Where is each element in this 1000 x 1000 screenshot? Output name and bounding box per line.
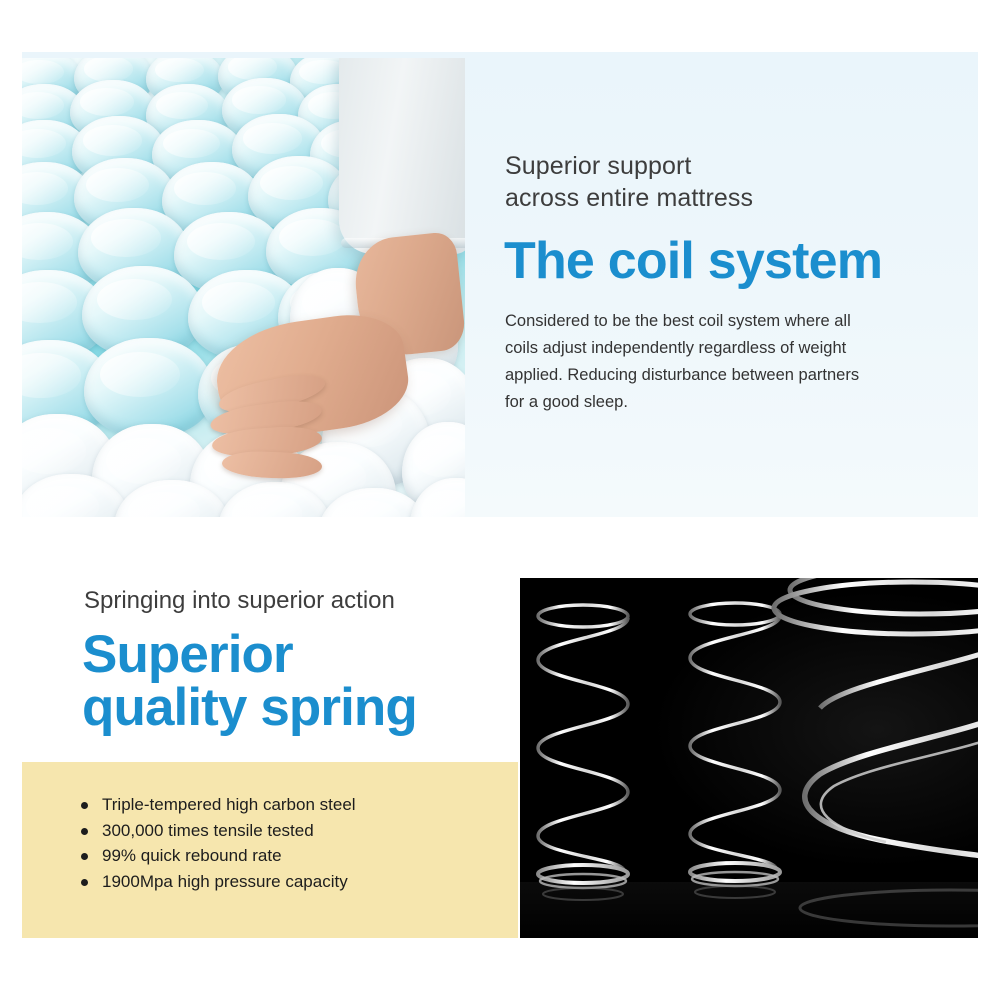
spring-large-closeup bbox=[774, 578, 978, 926]
coil-photo bbox=[22, 58, 465, 517]
spring-illustration bbox=[520, 578, 978, 938]
sleeve bbox=[339, 58, 465, 254]
spring-small-1 bbox=[538, 605, 628, 900]
spring-headline: Superior quality spring bbox=[82, 628, 512, 734]
infographic-canvas: Superior support across entire mattress … bbox=[0, 0, 1000, 1000]
spring-headline-line2: quality spring bbox=[82, 681, 512, 734]
list-item: 99% quick rebound rate bbox=[78, 843, 478, 869]
list-item: Triple-tempered high carbon steel bbox=[78, 792, 478, 818]
coil-body-text: Considered to be the best coil system wh… bbox=[505, 308, 877, 416]
list-item: 300,000 times tensile tested bbox=[78, 818, 478, 844]
spring-small-2 bbox=[690, 603, 780, 898]
spring-photo bbox=[520, 578, 978, 938]
spring-feature-list: Triple-tempered high carbon steel 300,00… bbox=[78, 792, 478, 894]
spring-kicker: Springing into superior action bbox=[84, 586, 504, 616]
coil-kicker: Superior support across entire mattress bbox=[505, 150, 925, 214]
spring-headline-line1: Superior bbox=[82, 628, 512, 681]
coil-kicker-line2: across entire mattress bbox=[505, 182, 925, 214]
list-item: 1900Mpa high pressure capacity bbox=[78, 869, 478, 895]
coil-kicker-line1: Superior support bbox=[505, 150, 925, 182]
coil-headline: The coil system bbox=[504, 232, 934, 290]
